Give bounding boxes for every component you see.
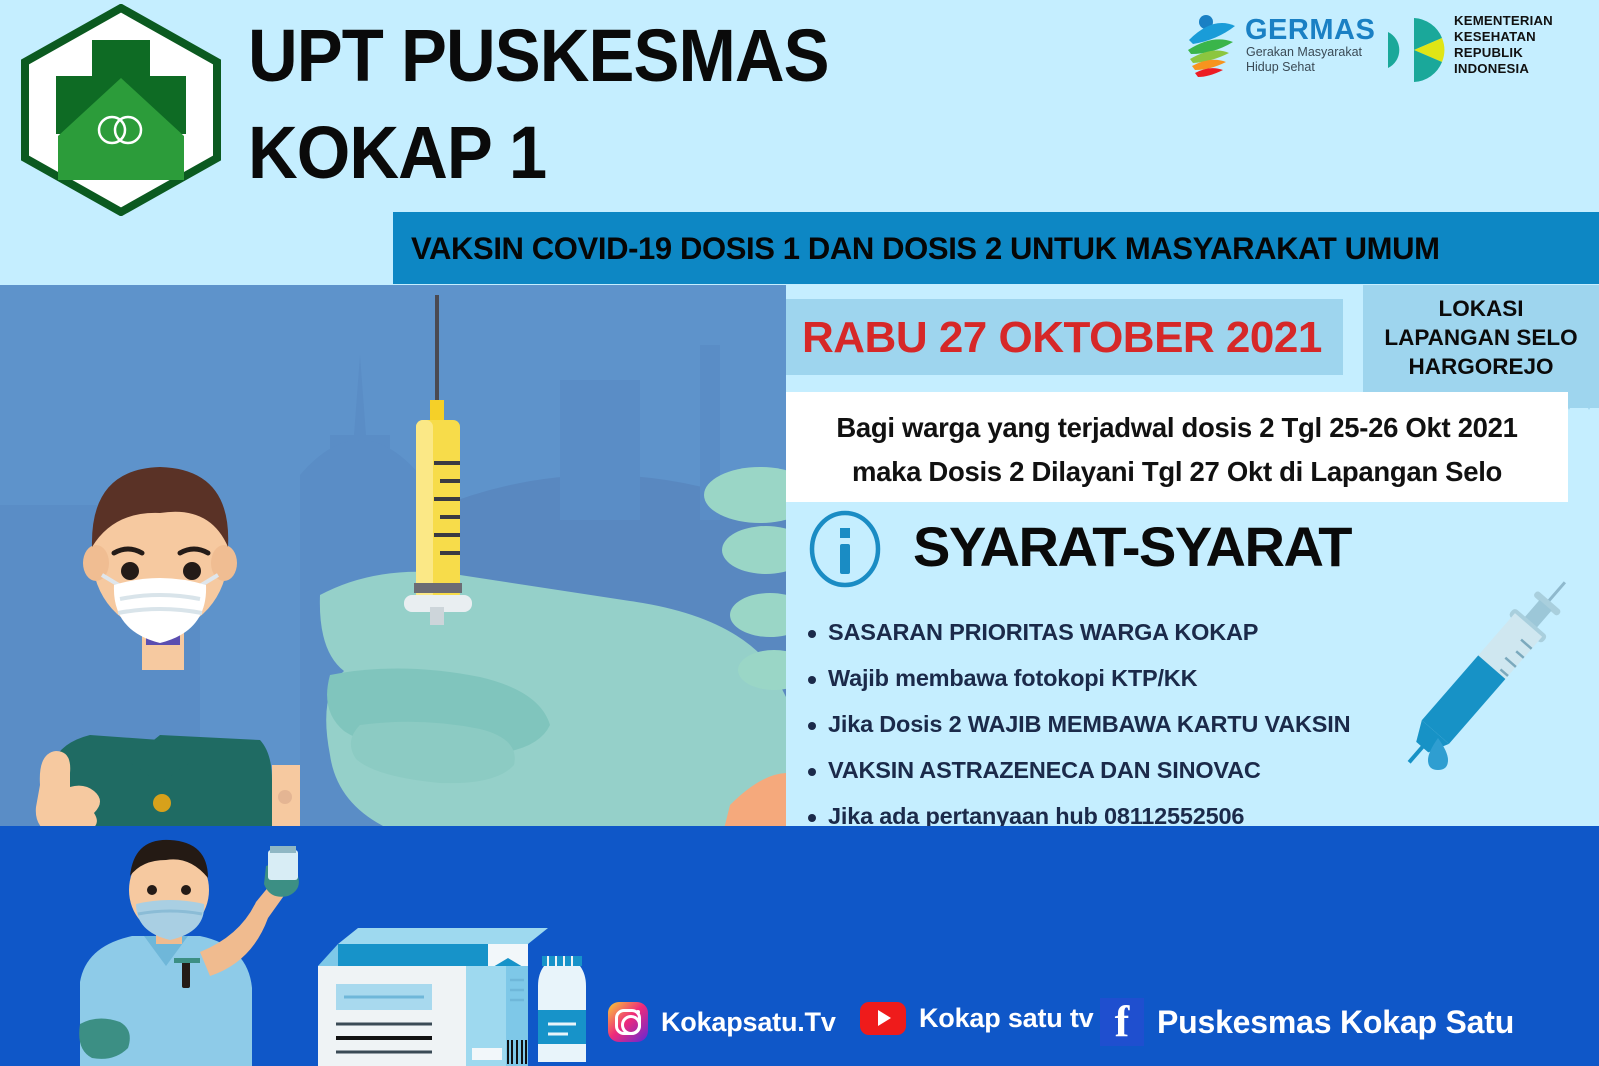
requirements-title: SYARAT-SYARAT	[913, 514, 1351, 579]
germas-logo: GERMAS Gerakan Masyarakat Hidup Sehat	[1183, 8, 1358, 80]
kemenkes-wordmark: KEMENTERIAN KESEHATAN REPUBLIK INDONESIA	[1454, 13, 1553, 77]
headline-banner: VAKSIN COVID-19 DOSIS 1 DAN DOSIS 2 UNTU…	[393, 212, 1599, 284]
instagram-link[interactable]: Kokapsatu.Tv	[608, 1002, 836, 1042]
masked-person-thumbs-up	[10, 435, 310, 826]
headline-text: VAKSIN COVID-19 DOSIS 1 DAN DOSIS 2 UNTU…	[411, 230, 1583, 267]
facebook-handle: Puskesmas Kokap Satu	[1157, 1004, 1514, 1041]
kemenkes-line2: KESEHATAN	[1454, 29, 1553, 45]
germas-wordmark: GERMAS	[1245, 14, 1375, 47]
location-label: LOKASI	[1363, 295, 1599, 324]
small-syringe-icon	[1402, 550, 1582, 790]
doctor-with-vial-illustration	[70, 832, 310, 1066]
germas-tagline: Gerakan Masyarakat Hidup Sehat	[1246, 45, 1366, 75]
info-panel: RABU 27 OKTOBER 2021 LOKASI LAPANGAN SEL…	[786, 285, 1599, 826]
date-banner: RABU 27 OKTOBER 2021	[786, 299, 1343, 375]
vaccination-illustration	[0, 285, 786, 826]
info-icon	[806, 510, 884, 588]
plant-decoration	[674, 455, 786, 715]
youtube-icon	[860, 1002, 906, 1035]
instagram-handle: Kokapsatu.Tv	[661, 1007, 836, 1038]
kemenkes-line4: INDONESIA	[1454, 61, 1553, 77]
vaccine-box-illustration	[296, 922, 596, 1066]
facebook-link[interactable]: f Puskesmas Kokap Satu	[1100, 998, 1514, 1046]
location-line2: HARGOREJO	[1363, 353, 1599, 382]
title-line-2: KOKAP 1	[248, 115, 1085, 190]
kemenkes-logo: KEMENTERIAN KESEHATAN REPUBLIK INDONESIA	[1372, 6, 1592, 86]
germas-tagline-line2: Hidup Sehat	[1246, 60, 1366, 75]
kemenkes-line3: REPUBLIK	[1454, 45, 1553, 61]
poster-header: UPT PUSKESMAS KOKAP 1 GERMAS Gerakan Mas…	[0, 0, 1599, 285]
instagram-icon	[608, 1002, 648, 1042]
green-cross-hexagon-logo	[12, 4, 230, 216]
note-line-2: maka Dosis 2 Dilayani Tgl 27 Okt di Lapa…	[786, 456, 1568, 488]
page-title: UPT PUSKESMAS KOKAP 1	[248, 18, 1148, 191]
facebook-icon: f	[1100, 998, 1144, 1046]
youtube-handle: Kokap satu tv	[919, 1003, 1093, 1034]
location-text: LOKASI LAPANGAN SELO HARGOREJO	[1363, 295, 1599, 381]
germas-tagline-line1: Gerakan Masyarakat	[1246, 45, 1366, 60]
schedule-note: Bagi warga yang terjadwal dosis 2 Tgl 25…	[786, 392, 1568, 502]
note-line-1: Bagi warga yang terjadwal dosis 2 Tgl 25…	[786, 412, 1568, 444]
location-line1: LAPANGAN SELO	[1363, 324, 1599, 353]
kemenkes-line1: KEMENTERIAN	[1454, 13, 1553, 29]
title-line-1: UPT PUSKESMAS	[248, 18, 1085, 93]
event-date: RABU 27 OKTOBER 2021	[802, 313, 1322, 363]
large-syringe-icon	[378, 295, 498, 625]
youtube-link[interactable]: Kokap satu tv	[860, 1002, 1093, 1035]
social-links: Kokapsatu.Tv Kokap satu tv f Puskesmas K…	[600, 996, 1599, 1056]
poster-root: UPT PUSKESMAS KOKAP 1 GERMAS Gerakan Mas…	[0, 0, 1599, 1066]
